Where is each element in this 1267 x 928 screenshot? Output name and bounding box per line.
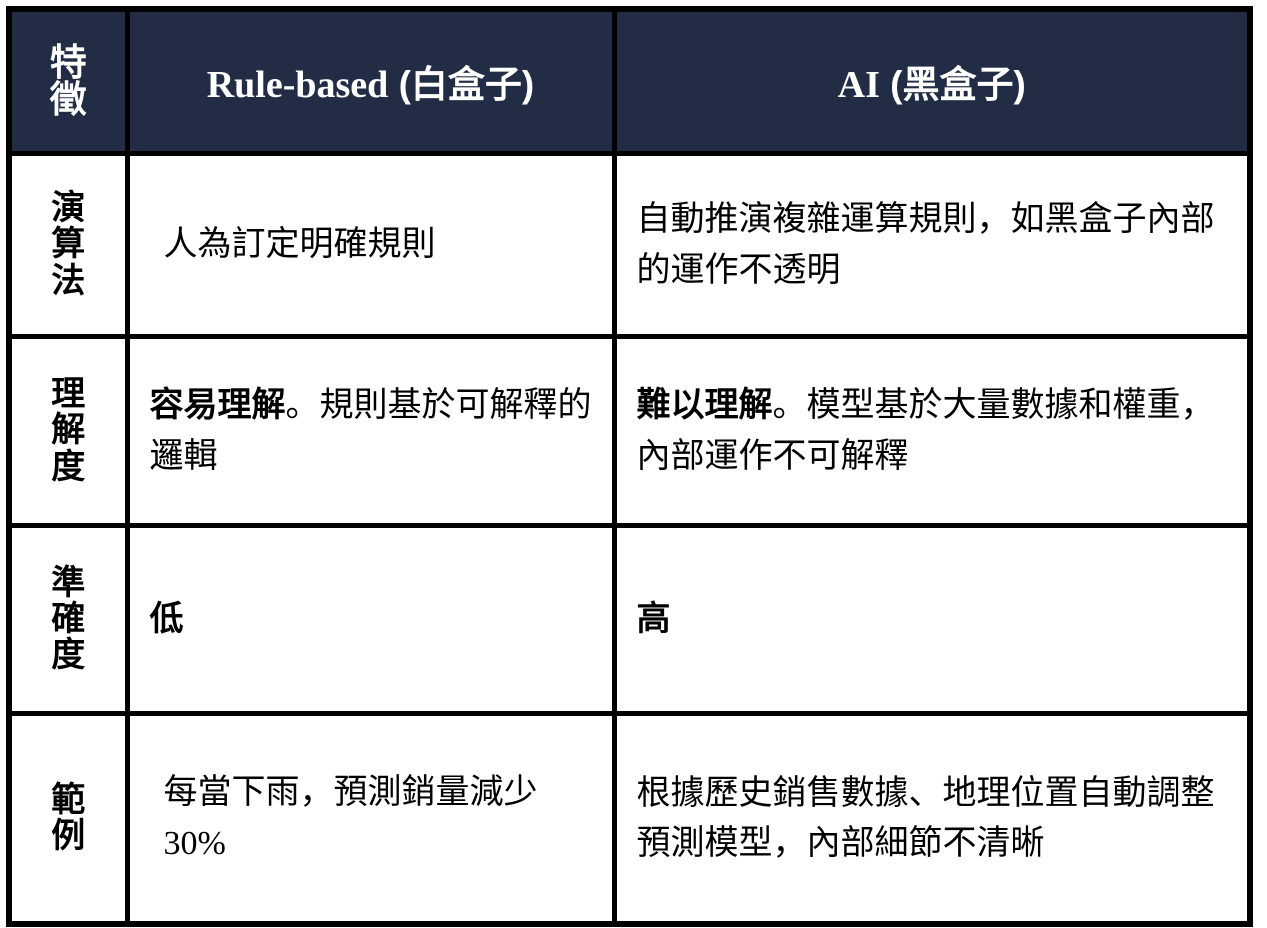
cell-example-rule-based: 每當下雨，預測銷量減少30%	[127, 713, 614, 924]
cell-algorithm-rule-based: 人為訂定明確規則	[127, 153, 614, 336]
cell-interpretability-ai: 難以理解。模型基於大量數據和權重，內部運作不可解釋	[614, 336, 1250, 525]
feature-label-algorithm-char-1: 演	[16, 190, 121, 226]
feature-label-accuracy-char-2: 確	[16, 601, 121, 637]
feature-label-algorithm: 演 算 法	[16, 190, 121, 298]
feature-label-interpretability-char-1: 理	[16, 376, 121, 412]
cell-example-rule-based-text: 每當下雨，預測銷量減少	[164, 773, 538, 811]
cell-interpretability-ai-lead: 難以理解	[637, 386, 773, 424]
header-label-ai-latin: AI	[838, 64, 880, 106]
table-header-row: 特 徵 Rule-based (白盒子) AI (黑盒子)	[9, 9, 1250, 153]
feature-label-interpretability-char-3: 度	[16, 449, 121, 485]
feature-label-example-char-2: 例	[16, 818, 121, 854]
header-label-rule-based-latin: Rule-based	[207, 64, 389, 106]
feature-label-accuracy-char-3: 度	[16, 637, 121, 673]
cell-example-ai: 根據歷史銷售數據、地理位置自動調整預測模型，內部細節不清晰	[614, 713, 1250, 924]
cell-accuracy-ai-text: 高	[637, 600, 671, 638]
header-label-feature-char-2: 徵	[13, 81, 124, 119]
cell-interpretability-rule-based-lead: 容易理解	[150, 386, 286, 424]
feature-label-accuracy-char-1: 準	[16, 565, 121, 601]
header-label-ai: AI (黑盒子)	[618, 54, 1247, 108]
feature-cell-accuracy: 準 確 度	[9, 525, 127, 713]
table-row: 範 例 每當下雨，預測銷量減少30% 根據歷史銷售數據、地理位置自動調整預測模型…	[9, 713, 1250, 924]
feature-label-algorithm-char-3: 法	[16, 263, 121, 299]
cell-example-ai-text: 根據歷史銷售數據、地理位置自動調整預測模型，內部細節不清晰	[637, 774, 1215, 862]
cell-accuracy-rule-based-text: 低	[150, 600, 184, 638]
cell-algorithm-ai: 自動推演複雜運算規則，如黑盒子內部的運作不透明	[614, 153, 1250, 336]
cell-accuracy-ai: 高	[614, 525, 1250, 713]
feature-label-accuracy: 準 確 度	[16, 565, 121, 673]
header-cell-rule-based: Rule-based (白盒子)	[127, 9, 614, 153]
feature-label-example: 範 例	[16, 782, 121, 854]
rule-based-vs-ai-comparison-table: 特 徵 Rule-based (白盒子) AI (黑盒子) 演 算 法	[6, 6, 1253, 927]
cell-example-rule-based-number: 30%	[164, 825, 226, 862]
header-label-ai-cjk: (黑盒子)	[880, 64, 1026, 105]
header-cell-ai: AI (黑盒子)	[614, 9, 1250, 153]
table-row: 準 確 度 低 高	[9, 525, 1250, 713]
cell-interpretability-rule-based: 容易理解。規則基於可解釋的邏輯	[127, 336, 614, 525]
header-cell-feature: 特 徵	[9, 9, 127, 153]
cell-algorithm-ai-text: 自動推演複雜運算規則，如黑盒子內部的運作不透明	[637, 200, 1215, 288]
feature-cell-algorithm: 演 算 法	[9, 153, 127, 336]
feature-label-interpretability-char-2: 解	[16, 412, 121, 448]
feature-label-interpretability: 理 解 度	[16, 376, 121, 484]
feature-label-example-char-1: 範	[16, 782, 121, 818]
header-label-rule-based-cjk: (白盒子)	[388, 64, 534, 105]
header-label-feature: 特 徵	[13, 44, 124, 119]
header-label-rule-based: Rule-based (白盒子)	[131, 54, 611, 108]
cell-accuracy-rule-based: 低	[127, 525, 614, 713]
table-row: 演 算 法 人為訂定明確規則 自動推演複雜運算規則，如黑盒子內部的運作不透明	[9, 153, 1250, 336]
header-label-feature-char-1: 特	[13, 44, 124, 82]
feature-cell-example: 範 例	[9, 713, 127, 924]
feature-label-algorithm-char-2: 算	[16, 226, 121, 262]
comparison-table-container: 特 徵 Rule-based (白盒子) AI (黑盒子) 演 算 法	[6, 6, 1247, 921]
table-row: 理 解 度 容易理解。規則基於可解釋的邏輯 難以理解。模型基於大量數據和權重，內…	[9, 336, 1250, 525]
feature-cell-interpretability: 理 解 度	[9, 336, 127, 525]
cell-algorithm-rule-based-text: 人為訂定明確規則	[164, 225, 436, 263]
